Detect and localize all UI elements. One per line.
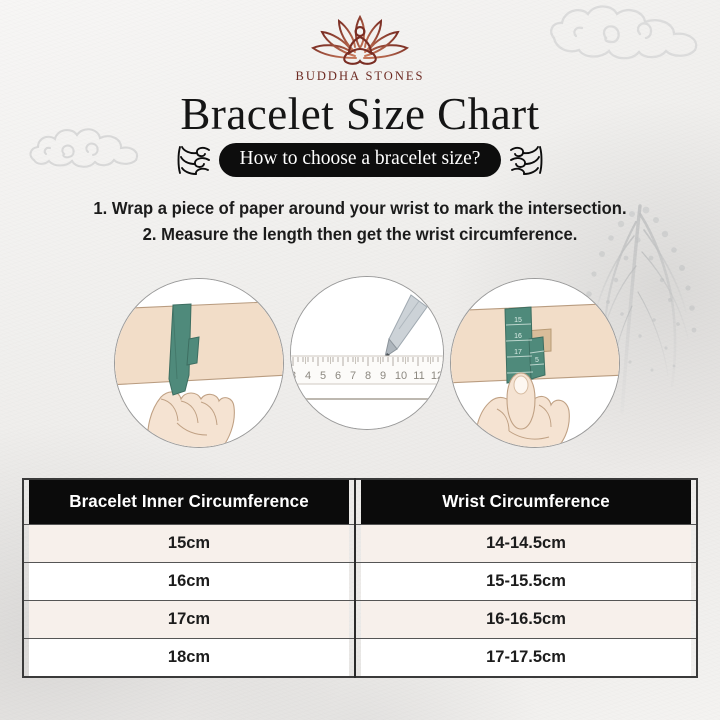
cell-bracelet-size: 15cm: [28, 525, 350, 563]
svg-text:6: 6: [335, 370, 341, 382]
table-header-row: Bracelet Inner Circumference Wrist Circu…: [23, 479, 697, 525]
subtitle-row: How to choose a bracelet size?: [0, 143, 720, 177]
cell-bracelet-size: 18cm: [28, 639, 350, 678]
ruler-and-pencil-icon: 34 56 78 910 1112: [291, 277, 443, 429]
subtitle-pill: How to choose a bracelet size?: [219, 143, 502, 177]
instruction-step-1: 1. Wrap a piece of paper around your wri…: [16, 195, 704, 221]
size-chart-page: BUDDHA STONES Bracelet Size Chart How to…: [0, 0, 720, 720]
measuring-tape-wrist-icon: 151617 5: [451, 279, 619, 447]
lotus-meditation-icon: [308, 14, 412, 68]
table-row: 15cm 14-14.5cm: [23, 525, 697, 563]
svg-text:11: 11: [413, 370, 424, 382]
svg-text:5: 5: [320, 370, 326, 382]
brand-name: BUDDHA STONES: [0, 69, 720, 84]
ornament-flourish-left-icon: [176, 145, 210, 175]
illustration-wrap-paper: [114, 278, 284, 448]
svg-text:12: 12: [431, 370, 443, 382]
ornament-flourish-right-icon: [510, 145, 544, 175]
svg-text:15: 15: [514, 317, 522, 324]
cell-wrist-size: 15-15.5cm: [360, 563, 692, 601]
illustration-measure-ruler: 34 56 78 910 1112: [290, 276, 444, 430]
svg-text:5: 5: [535, 357, 539, 364]
wrist-with-paper-strip-icon: [115, 279, 283, 447]
cell-bracelet-size: 16cm: [28, 563, 350, 601]
instructions: 1. Wrap a piece of paper around your wri…: [16, 195, 704, 248]
svg-text:8: 8: [365, 370, 371, 382]
illustration-measuring-tape: 151617 5: [450, 278, 620, 448]
page-title: Bracelet Size Chart: [0, 88, 720, 140]
column-header-bracelet: Bracelet Inner Circumference: [28, 479, 350, 525]
table-row: 16cm 15-15.5cm: [23, 563, 697, 601]
svg-text:10: 10: [395, 370, 407, 382]
svg-text:17: 17: [514, 349, 522, 356]
cell-wrist-size: 14-14.5cm: [360, 525, 692, 563]
svg-text:16: 16: [514, 333, 522, 340]
cell-bracelet-size: 17cm: [28, 601, 350, 639]
size-table: Bracelet Inner Circumference Wrist Circu…: [22, 478, 698, 678]
table-row: 17cm 16-16.5cm: [23, 601, 697, 639]
brand-logo: BUDDHA STONES: [0, 14, 720, 84]
svg-text:4: 4: [305, 370, 311, 382]
svg-text:7: 7: [350, 370, 356, 382]
cell-wrist-size: 16-16.5cm: [360, 601, 692, 639]
table-row: 18cm 17-17.5cm: [23, 639, 697, 678]
svg-text:9: 9: [380, 370, 386, 382]
cell-wrist-size: 17-17.5cm: [360, 639, 692, 678]
column-header-wrist: Wrist Circumference: [360, 479, 692, 525]
illustration-row: 34 56 78 910 1112: [0, 272, 720, 454]
svg-text:3: 3: [291, 370, 296, 382]
instruction-step-2: 2. Measure the length then get the wrist…: [16, 221, 704, 247]
